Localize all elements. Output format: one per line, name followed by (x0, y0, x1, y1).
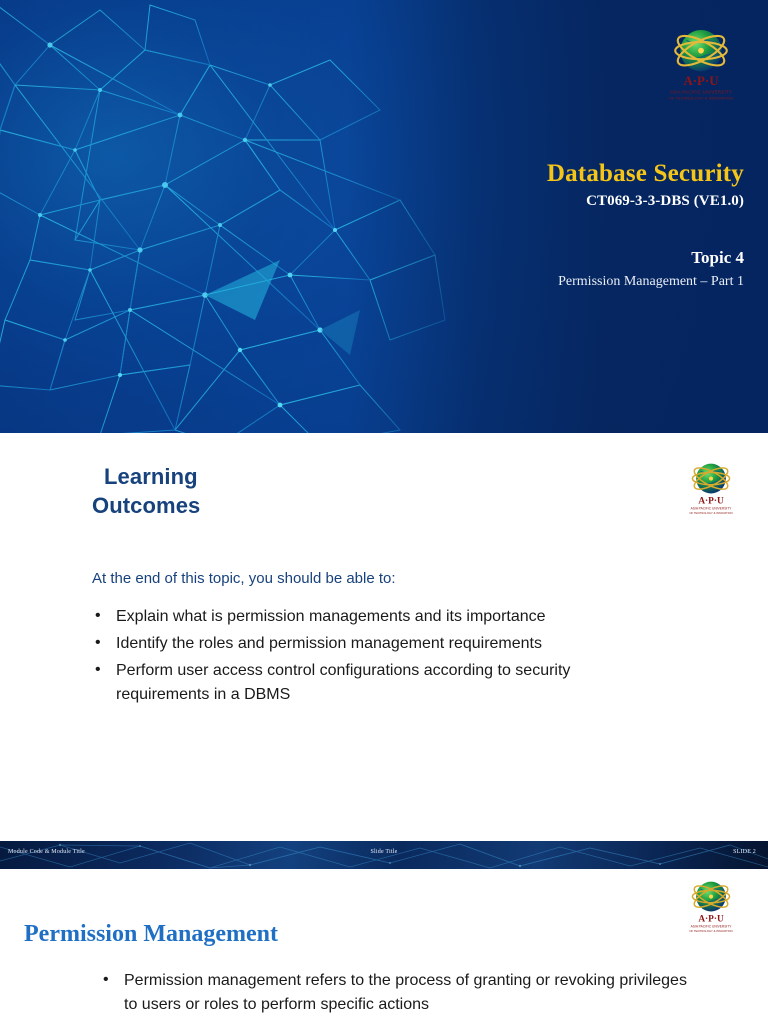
apu-tagline-line2: OF TECHNOLOGY & INNOVATION (689, 511, 732, 515)
slide-title-hero: A·P·U ASIA PACIFIC UNIVERSITY OF TECHNOL… (0, 0, 768, 433)
apu-logo: A·P·U ASIA PACIFIC UNIVERSITY OF TECHNOL… (658, 18, 744, 104)
bullet-icon: • (95, 658, 101, 681)
apu-tagline-line1: ASIA PACIFIC UNIVERSITY (691, 507, 733, 511)
list-item: • Perform user access control configurat… (90, 659, 590, 705)
list-item-label: Identify the roles and permission manage… (116, 635, 542, 652)
course-title-block: Database Security CT069-3-3-DBS (VE1.0) (204, 160, 744, 210)
list-item: • Explain what is permission managements… (90, 605, 590, 628)
course-title: Database Security (204, 160, 744, 189)
presentation-page: A·P·U ASIA PACIFIC UNIVERSITY OF TECHNOL… (0, 0, 768, 1024)
list-item: • Identify the roles and permission mana… (90, 632, 590, 655)
slide-permission-management: A·P·U ASIA PACIFIC UNIVERSITY OF TECHNOL… (0, 869, 768, 1024)
footer-slide-number: SLIDE 2 (733, 849, 756, 855)
apu-logo: A·P·U ASIA PACIFIC UNIVERSITY OF TECHNOL… (680, 873, 742, 935)
permission-management-list: • Permission management refers to the pr… (98, 969, 698, 1017)
slide-learning-outcomes: A·P·U ASIA PACIFIC UNIVERSITY OF TECHNOL… (0, 433, 768, 841)
apu-tagline-line2: OF TECHNOLOGY & INNOVATION (689, 929, 732, 933)
permission-management-heading: Permission Management (24, 921, 278, 948)
heading-line-2: Outcomes (92, 491, 200, 521)
learning-outcomes-list: • Explain what is permission managements… (90, 605, 590, 710)
apu-wordmark: A·P·U (698, 496, 724, 506)
topic-subtitle: Permission Management – Part 1 (204, 274, 744, 290)
bullet-icon: • (95, 631, 101, 654)
list-item-label: Perform user access control configuratio… (116, 662, 570, 702)
footer-slide-title: Slide Title (370, 849, 397, 855)
bullet-icon: • (103, 968, 109, 992)
learning-outcomes-intro: At the end of this topic, you should be … (92, 570, 396, 587)
bullet-icon: • (95, 604, 101, 627)
apu-wordmark: A·P·U (698, 914, 724, 924)
apu-tagline-line2: OF TECHNOLOGY & INNOVATION (669, 97, 734, 101)
apu-logo: A·P·U ASIA PACIFIC UNIVERSITY OF TECHNOL… (680, 455, 742, 517)
apu-tagline-line1: ASIA PACIFIC UNIVERSITY (670, 90, 732, 95)
footer-module-label: Module Code & Module Title (8, 849, 85, 855)
apu-tagline-line1: ASIA PACIFIC UNIVERSITY (691, 925, 733, 929)
heading-line-1: Learning (92, 462, 200, 492)
slide-footer-bar: Module Code & Module Title Slide Title S… (0, 841, 768, 869)
footer-network-graphic (0, 841, 768, 869)
course-code: CT069-3-3-DBS (VE1.0) (204, 193, 744, 210)
list-item: • Permission management refers to the pr… (98, 969, 698, 1017)
list-item-label: Permission management refers to the proc… (124, 972, 687, 1013)
learning-outcomes-heading: Learning Outcomes (92, 462, 200, 521)
list-item-label: Explain what is permission managements a… (116, 608, 546, 625)
apu-wordmark: A·P·U (683, 74, 718, 88)
topic-block: Topic 4 Permission Management – Part 1 (204, 248, 744, 290)
topic-number: Topic 4 (204, 248, 744, 268)
